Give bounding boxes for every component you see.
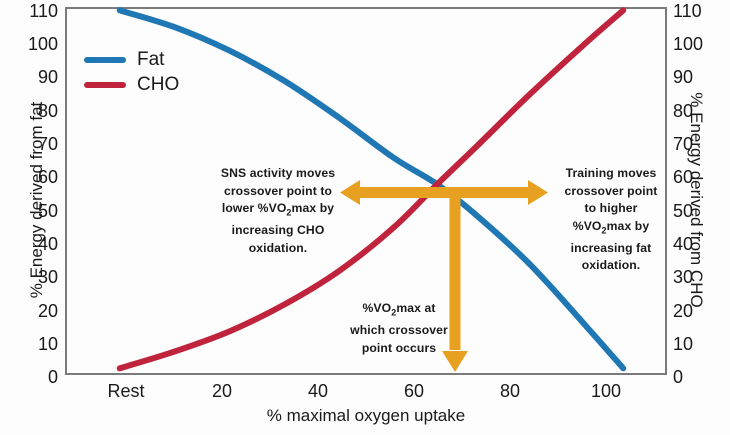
chart-canvas: % Energy derived from fat % Energy deriv…: [0, 0, 730, 435]
annotation-right-line2: crossover point: [565, 184, 658, 198]
y-tick-left: 100: [28, 35, 58, 53]
legend-swatch-cho: [84, 82, 126, 88]
y-tick-right: 60: [673, 168, 693, 186]
y-tick-right: 70: [673, 135, 693, 153]
y-tick-right: 100: [673, 35, 703, 53]
y-tick-right: 110: [673, 2, 702, 20]
legend-item-fat: Fat: [84, 47, 214, 72]
annotation-bottom-line3: point occurs: [362, 341, 436, 355]
annotation-left-line4: increasing CHO: [232, 223, 325, 237]
y-tick-right: 0: [673, 368, 683, 386]
x-tick: 20: [212, 381, 232, 402]
annotation-right-line4a: %VO: [573, 219, 602, 233]
annotation-right: Training moves crossover point to higher…: [550, 165, 672, 275]
y-tick-right: 90: [673, 68, 693, 86]
y-tick-left: 30: [38, 268, 58, 286]
y-tick-left: 70: [38, 135, 58, 153]
y-tick-right: 20: [673, 302, 693, 320]
annotation-right-line1: Training moves: [566, 166, 657, 180]
annotation-left-line3b: max by: [292, 201, 335, 215]
annotation-left-line5: oxidation.: [249, 241, 308, 255]
legend-item-cho: CHO: [84, 72, 214, 97]
annotation-bottom: %VO2max at which crossover point occurs: [338, 300, 460, 357]
y-tick-left: 40: [38, 235, 58, 253]
annotation-left-line2: crossover point to: [224, 184, 332, 198]
annotation-right-line4b: max by: [607, 219, 650, 233]
legend: Fat CHO: [84, 47, 214, 97]
y-tick-left: 110: [29, 2, 58, 20]
annotation-right-line5: increasing fat: [571, 241, 652, 255]
annotation-left-line3a: lower %VO: [222, 201, 287, 215]
legend-label-cho: CHO: [137, 74, 179, 96]
y-tick-left: 60: [38, 168, 58, 186]
y-tick-left: 0: [48, 368, 58, 386]
y-tick-right: 30: [673, 268, 693, 286]
annotation-left-line1: SNS activity moves: [221, 166, 335, 180]
y-tick-left: 20: [38, 302, 58, 320]
annotation-left: SNS activity moves crossover point to lo…: [204, 165, 352, 257]
annotation-bottom-line1a: %VO: [362, 301, 391, 315]
y-tick-left: 10: [38, 335, 58, 353]
x-tick: Rest: [107, 381, 144, 402]
x-tick: 100: [591, 381, 621, 402]
annotation-bottom-line2: which crossover: [350, 323, 448, 337]
x-axis-title: % maximal oxygen uptake: [65, 406, 667, 426]
x-tick: 60: [404, 381, 424, 402]
annotation-right-line3: to higher: [584, 201, 637, 215]
annotation-bottom-line1b: max at: [396, 301, 435, 315]
legend-label-fat: Fat: [137, 49, 164, 71]
y-tick-right: 40: [673, 235, 693, 253]
y-tick-left: 90: [38, 68, 58, 86]
legend-swatch-fat: [84, 57, 126, 63]
x-tick: 40: [308, 381, 328, 402]
annotation-right-line6: oxidation.: [582, 258, 641, 272]
y-tick-right: 10: [673, 335, 693, 353]
y-tick-right: 50: [673, 202, 693, 220]
x-tick: 80: [500, 381, 520, 402]
y-tick-right: 80: [673, 102, 693, 120]
y-tick-left: 50: [38, 202, 58, 220]
y-tick-left: 80: [38, 102, 58, 120]
